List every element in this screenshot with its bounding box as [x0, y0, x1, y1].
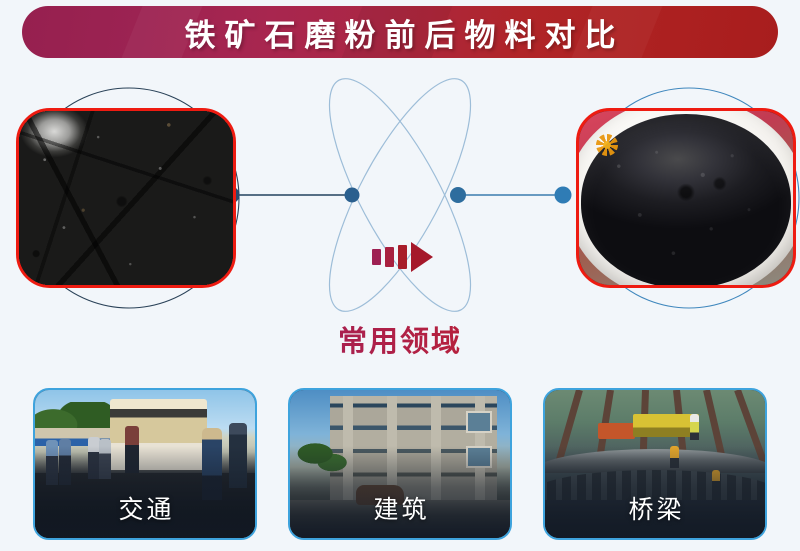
- bridge-machine-orange: [598, 423, 635, 439]
- title-banner: 铁矿石磨粉前后物料对比: [22, 6, 778, 58]
- arrow-bar-3: [398, 245, 407, 269]
- iron-ore-powder-photo: [579, 111, 793, 285]
- field-label-transportation: 交通: [35, 490, 255, 526]
- connector-node-mid-right: [450, 187, 466, 203]
- bridge-worker-1: [690, 414, 699, 440]
- connector-node-mid-left: [345, 188, 360, 203]
- arrow-bar-1: [372, 249, 381, 265]
- orbit-ellipse-2: [304, 62, 497, 312]
- field-label-construction: 建筑: [290, 490, 510, 526]
- iron-ore-rocks-photo: [19, 111, 233, 285]
- field-card-bridge[interactable]: 桥梁: [543, 388, 767, 540]
- application-fields-row: 交通 建筑: [33, 388, 767, 540]
- flower-decoration-icon: [596, 134, 618, 156]
- field-card-transportation[interactable]: 交通: [33, 388, 257, 540]
- process-arrow-icon: [372, 244, 433, 270]
- window-1: [466, 411, 492, 433]
- ore-speckle-highlights: [19, 111, 233, 285]
- banner-background: 铁矿石磨粉前后物料对比: [22, 6, 778, 58]
- before-photo-card: [16, 108, 236, 288]
- after-photo-card: [576, 108, 796, 288]
- orbit-ellipse-1: [304, 62, 497, 312]
- bridge-machine-yellow: [633, 414, 699, 438]
- page-title: 铁矿石磨粉前后物料对比: [22, 6, 778, 58]
- section-heading: 常用领域: [0, 318, 800, 360]
- field-card-construction[interactable]: 建筑: [288, 388, 512, 540]
- comparison-stage: [0, 62, 800, 312]
- arrow-tip: [411, 242, 433, 272]
- field-label-bridge: 桥梁: [545, 490, 765, 526]
- arrow-bar-2: [385, 247, 394, 267]
- connector-node-right: [555, 187, 572, 204]
